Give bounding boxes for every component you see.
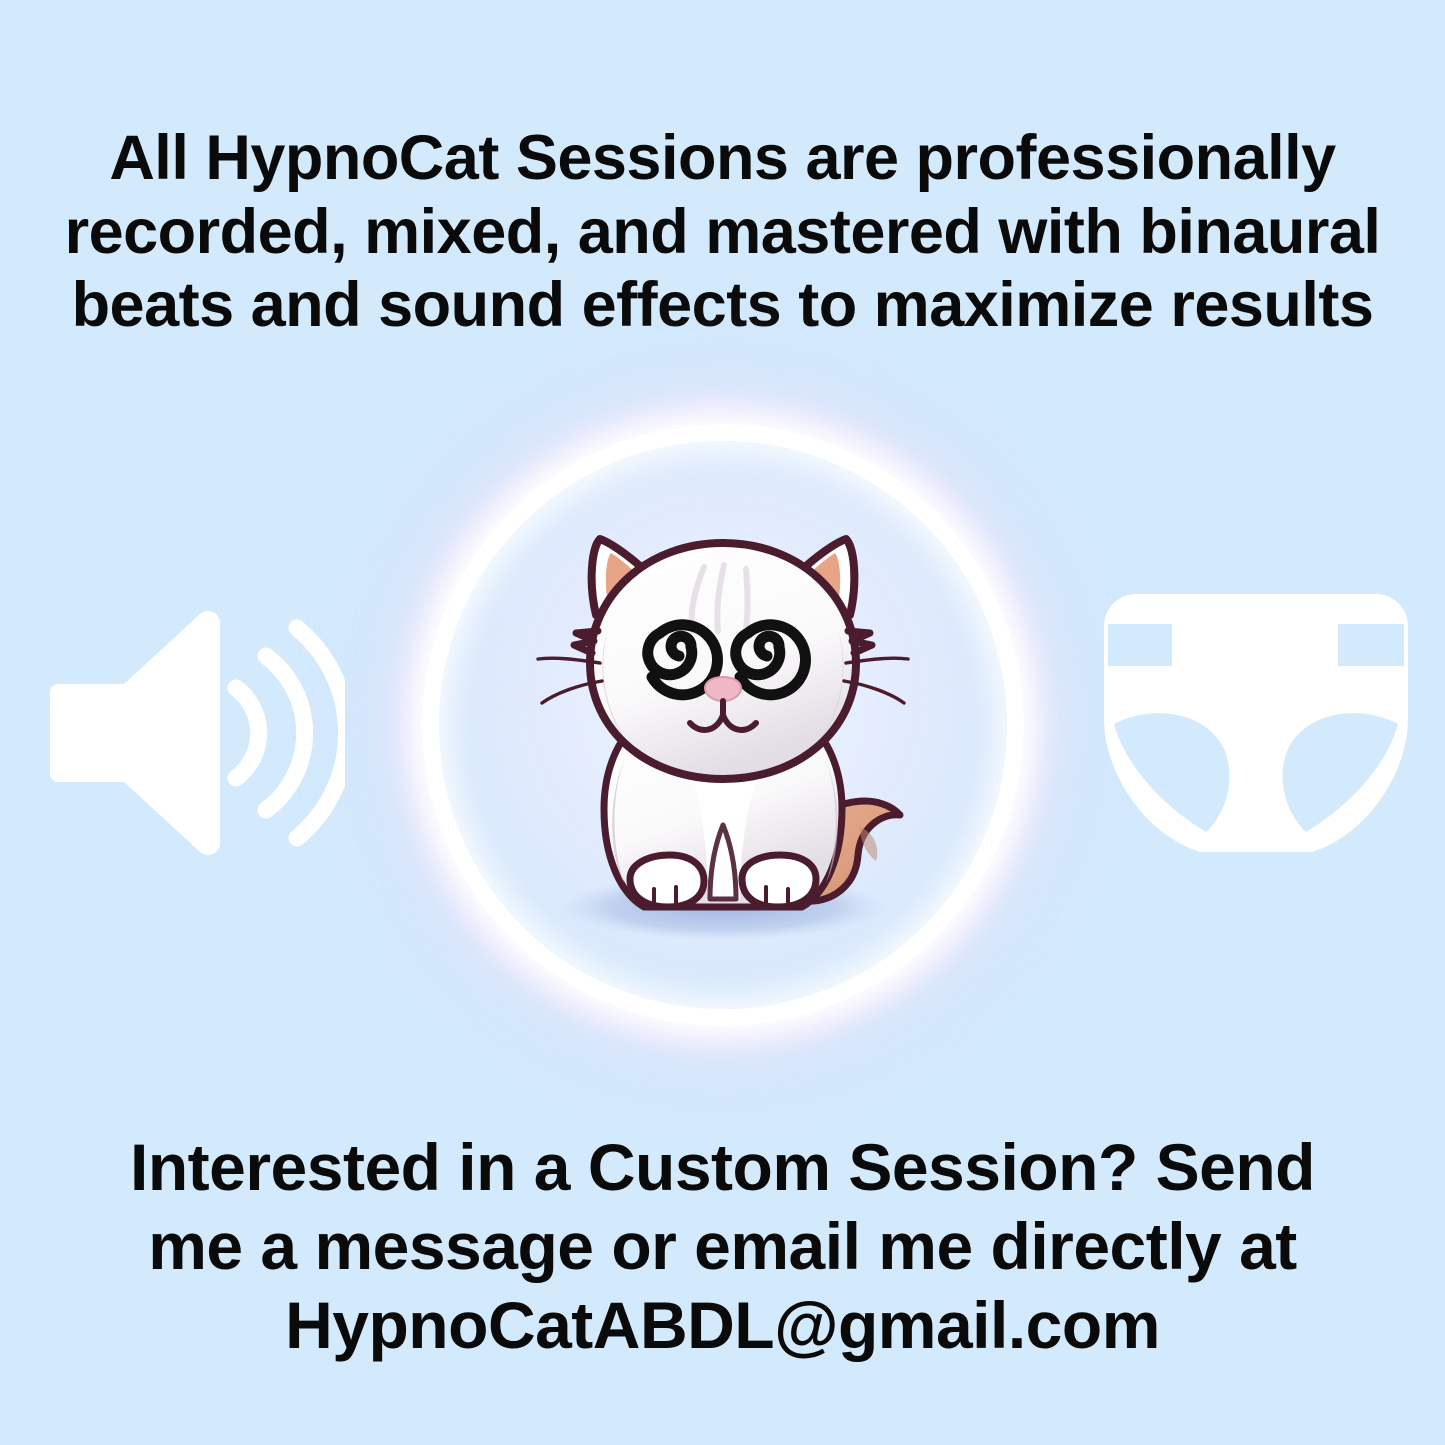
speaker-body <box>50 611 220 855</box>
headline-text: All HypnoCat Sessions are professionally… <box>0 122 1445 343</box>
diaper-icon <box>1100 588 1412 856</box>
diaper-tab-left <box>1108 624 1172 666</box>
poster-canvas: All HypnoCat Sessions are professionally… <box>0 0 1445 1445</box>
speaker-volume-icon <box>50 600 345 865</box>
mascot-paw-left <box>630 855 704 907</box>
speaker-sound-waves <box>236 628 345 838</box>
mascot-nose <box>705 677 741 701</box>
mascot-stage <box>362 380 1084 1070</box>
diaper-tab-right <box>1338 624 1404 666</box>
hypnocat-mascot <box>508 495 938 955</box>
footer-text: Interested in a Custom Session? Send me … <box>0 1128 1445 1366</box>
mascot-paw-right <box>742 855 816 907</box>
